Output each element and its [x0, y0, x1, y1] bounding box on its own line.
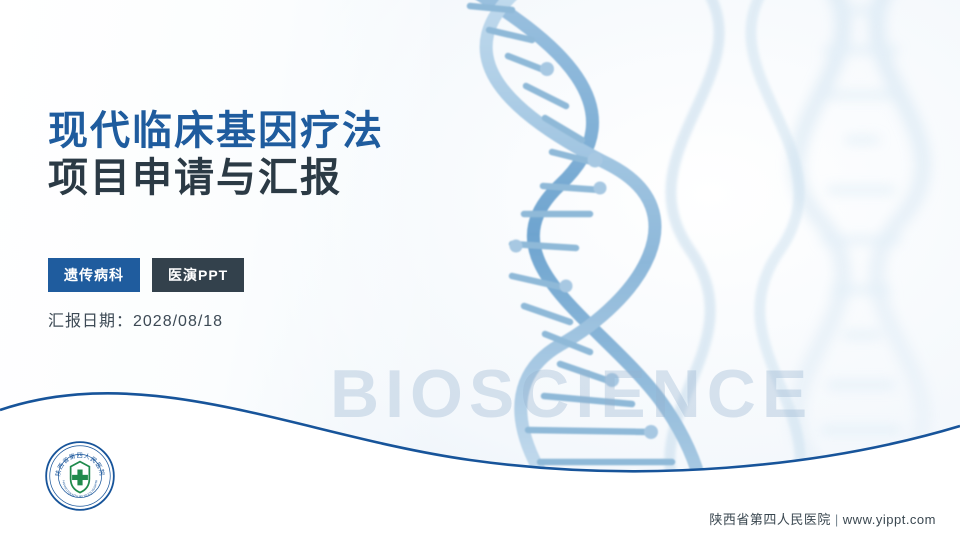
title-line-1: 现代临床基因疗法 — [48, 108, 384, 155]
title-block: 现代临床基因疗法 项目申请与汇报 — [48, 108, 384, 202]
footer-separator: | — [835, 512, 839, 527]
tag-department[interactable]: 遗传病科 — [48, 258, 140, 292]
tag-group: 遗传病科 医演PPT — [48, 258, 244, 292]
report-date: 汇报日期：2028/08/18 — [48, 307, 223, 331]
tag-template[interactable]: 医演PPT — [152, 258, 244, 292]
presentation-slide: BIOSCIENCE 现代临床基因疗法 项目申请与汇报 遗传病科 医演PPT 汇… — [0, 0, 960, 540]
footer-site[interactable]: www.yippt.com — [843, 512, 936, 527]
footer-credit: 陕西省第四人民医院|www.yippt.com — [709, 509, 936, 528]
title-line-2: 项目申请与汇报 — [48, 155, 384, 202]
hospital-logo-icon: 陕西省第四人民医院 SHAANXI FOURTH PEOPLE'S HOSPIT… — [44, 440, 116, 512]
footer-org: 陕西省第四人民医院 — [709, 512, 831, 527]
